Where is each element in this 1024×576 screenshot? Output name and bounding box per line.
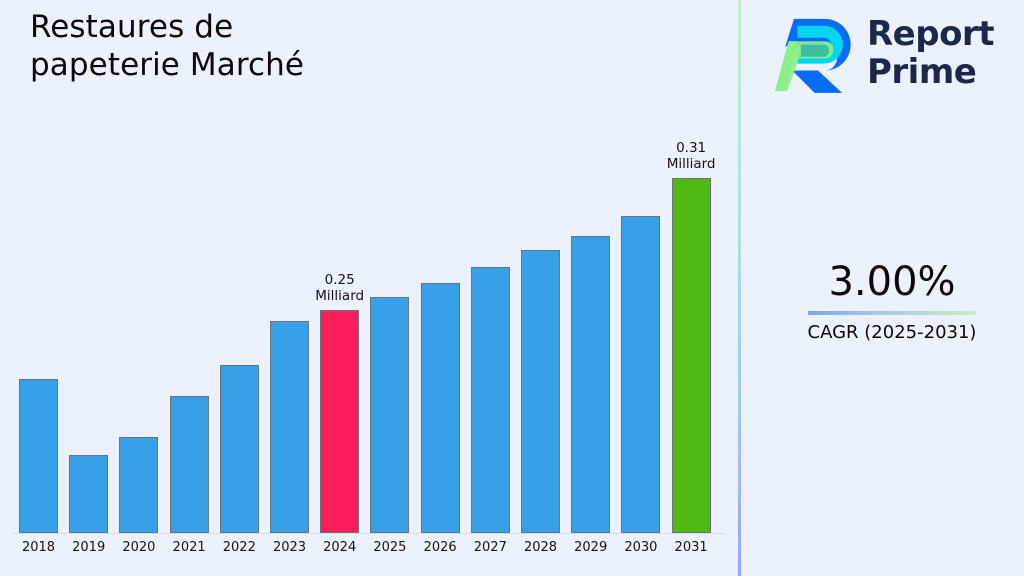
bar-chart-plot: 2018201920202021202220232024202520262027… [0,0,738,576]
bar-2018 [19,379,58,533]
bar-value-label-2024: 0.25 Milliard [285,272,395,304]
bar-2028 [521,250,560,533]
bar-value-label-2031: 0.31 Milliard [636,140,746,172]
bar-2030 [621,216,660,533]
bar-2020 [119,437,158,533]
x-tick-2031: 2031 [661,540,721,555]
brand-name: Report Prime [867,15,994,91]
panel-divider [738,0,741,576]
bar-2019 [69,455,108,533]
bar-2021 [170,396,209,533]
bar-2023 [270,321,309,533]
bar-2026 [421,283,460,533]
x-axis-line [13,533,725,534]
report-prime-logo-icon [775,12,861,98]
bar-2024 [320,310,359,533]
cagr-caption: CAGR (2025-2031) [760,321,1024,345]
bar-2031 [672,178,711,533]
bar-2025 [370,297,409,533]
bar-2029 [571,236,610,533]
cagr-divider-rule [808,311,976,315]
bar-2022 [220,365,259,533]
brand-logo: Report Prime [775,10,1015,102]
bar-2027 [471,267,510,533]
chart-screenshot: Restaures de papeterie Marché 2018201920… [0,0,1024,576]
cagr-value: 3.00% [760,258,1024,306]
cagr-summary: 3.00% CAGR (2025-2031) [760,258,1024,345]
